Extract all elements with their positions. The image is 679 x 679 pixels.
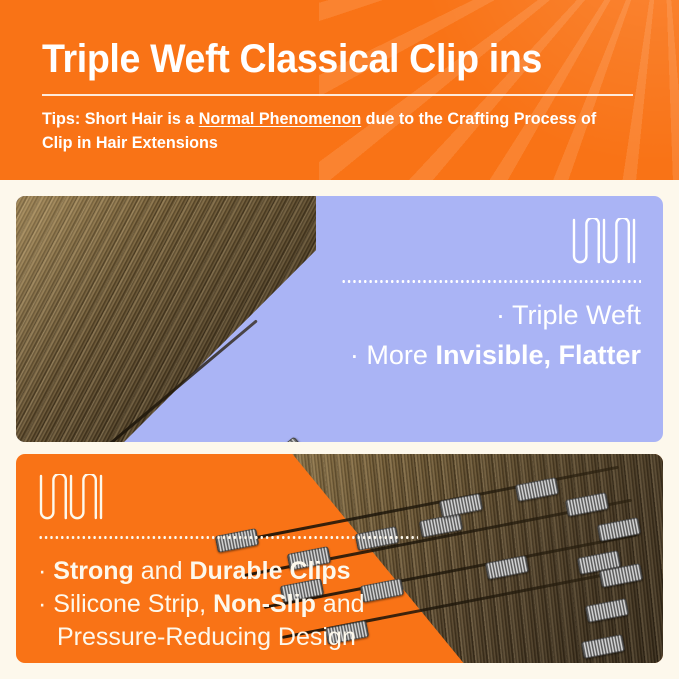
bullet-text: More — [366, 340, 435, 370]
feature-bullet-2-continued: Pressure-Reducing Design — [38, 621, 418, 654]
bullet-text: and — [134, 557, 190, 585]
feature-panel-triple-weft: · Triple Weft · More Invisible, Flatter — [16, 196, 663, 442]
feature-bullet-2: · More Invisible, Flatter — [341, 337, 641, 373]
bullet-text: Silicone Strip, — [53, 590, 213, 618]
bullet-text-emphasis: Strong — [53, 557, 134, 585]
orange-panel-text-block: · Strong and Durable Clips · Silicone St… — [38, 474, 418, 654]
feature-bullet-1: · Strong and Durable Clips — [38, 555, 418, 588]
header-banner: Triple Weft Classical Clip ins Tips: Sho… — [0, 0, 679, 180]
bullet-text-emphasis-2: Durable Clips — [189, 557, 350, 585]
page-title: Triple Weft Classical Clip ins — [42, 0, 601, 82]
bullet-marker: · — [350, 340, 367, 370]
subtitle-text-lead: Tips: Short Hair is a — [42, 109, 199, 128]
bullet-text: Pressure-Reducing Design — [57, 623, 356, 651]
blue-panel-text-block: · Triple Weft · More Invisible, Flatter — [341, 218, 641, 373]
triple-weft-icon — [571, 218, 641, 266]
title-divider — [42, 94, 633, 96]
bullet-marker: · — [38, 557, 53, 585]
bullet-text: Triple Weft — [512, 300, 641, 330]
hair-clip — [262, 436, 304, 442]
feature-bullet-2: · Silicone Strip, Non-Slip and — [38, 588, 418, 621]
bullet-marker: · — [38, 590, 53, 618]
feature-bullet-1: · Triple Weft — [341, 297, 641, 333]
subtitle-highlight: Normal Phenomenon — [199, 109, 361, 128]
bullet-marker: · — [496, 300, 512, 330]
bullet-text-emphasis: Invisible, Flatter — [435, 340, 641, 370]
bullet-text-tail: and — [316, 590, 365, 618]
triple-weft-icon — [38, 474, 108, 522]
dotted-divider — [341, 280, 641, 283]
feature-panel-clips: · Strong and Durable Clips · Silicone St… — [16, 454, 663, 663]
hair-weft-photo-sheen — [16, 196, 316, 442]
bullet-text-emphasis: Non-Slip — [213, 590, 316, 618]
dotted-divider — [38, 536, 418, 539]
page-subtitle: Tips: Short Hair is a Normal Phenomenon … — [42, 107, 607, 155]
